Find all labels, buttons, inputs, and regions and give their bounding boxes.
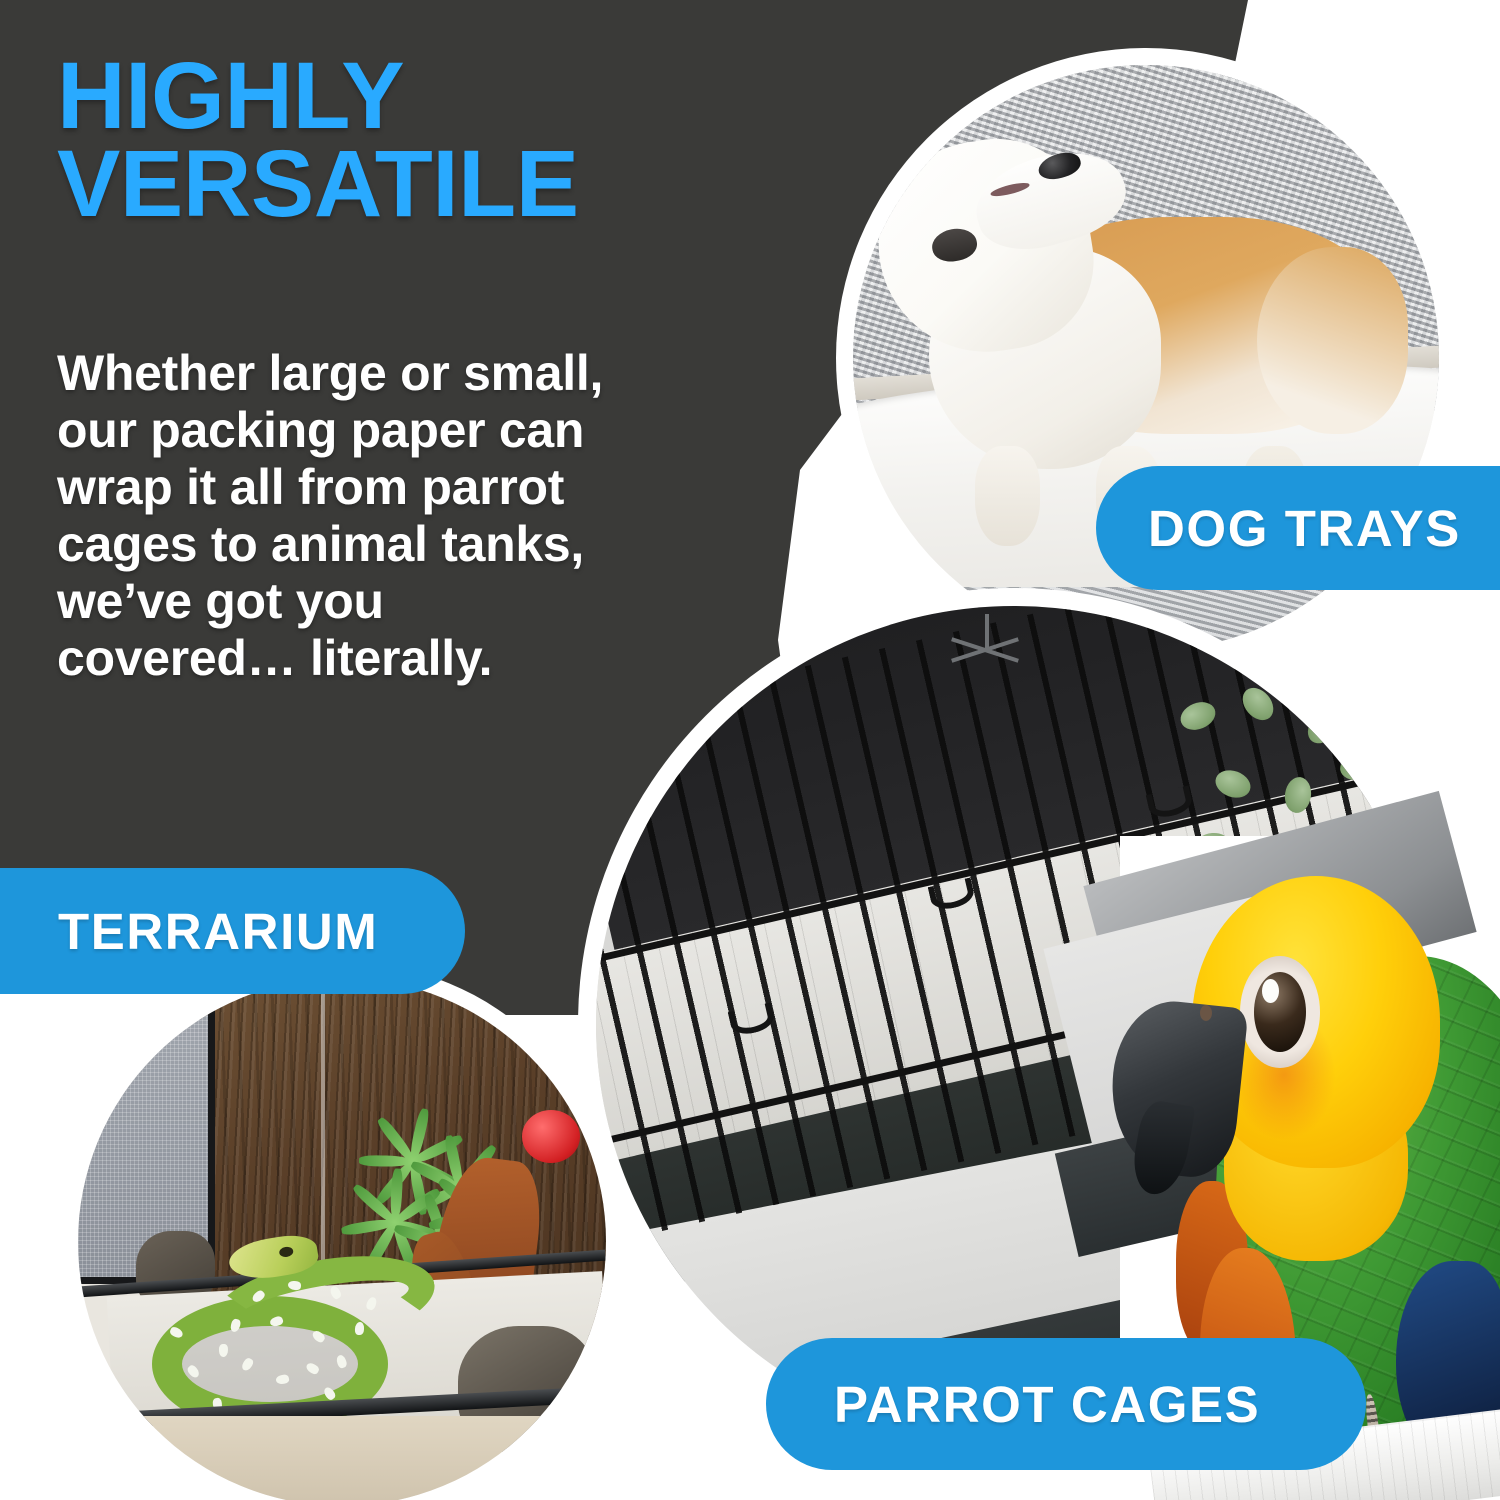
- badge-dog-trays-label: DOG TRAYS: [1148, 499, 1461, 558]
- cage-leaf: [1176, 697, 1219, 735]
- dog-rump: [1257, 247, 1408, 435]
- body-copy-line: cages to animal tanks,: [57, 516, 757, 573]
- dog-leg: [975, 446, 1041, 546]
- terrarium-photo-image: [78, 978, 606, 1500]
- cage-leaf: [1302, 705, 1345, 749]
- infographic-canvas: HIGHLY VERSATILE Whether large or small,…: [0, 0, 1500, 1500]
- terrarium-photo: [62, 962, 622, 1500]
- cage-hanger: [930, 614, 1040, 674]
- snake-marking: [355, 1322, 364, 1335]
- badge-terrarium-label: TERRARIUM: [58, 902, 378, 961]
- badge-dog-trays: DOG TRAYS: [1096, 466, 1500, 590]
- badge-parrot-cages-label: PARROT CAGES: [834, 1375, 1260, 1434]
- body-copy-line: our packing paper can: [57, 402, 757, 459]
- cage-leaf: [1236, 682, 1279, 726]
- cage-leaf: [1338, 751, 1378, 783]
- cage-leaf: [1211, 765, 1254, 802]
- snake-eye: [278, 1246, 294, 1258]
- parrot-eye: [1254, 972, 1306, 1052]
- page-title: HIGHLY VERSATILE: [57, 52, 887, 229]
- headline-line-2: VERSATILE: [57, 140, 887, 228]
- badge-parrot-cages: PARROT CAGES: [766, 1338, 1366, 1470]
- parrot-eye-glint: [1262, 979, 1279, 1003]
- body-copy: Whether large or small, our packing pape…: [57, 345, 757, 687]
- terrarium-scene: [78, 978, 606, 1500]
- cage-leaf: [1282, 776, 1313, 815]
- body-copy-line: wrap it all from parrot: [57, 459, 757, 516]
- headline-line-1: HIGHLY: [57, 52, 887, 140]
- cage-leaf: [1248, 606, 1288, 641]
- body-copy-line: we’ve got you: [57, 573, 757, 630]
- body-copy-line: Whether large or small,: [57, 345, 757, 402]
- cage-leaf: [1306, 631, 1350, 675]
- badge-terrarium: TERRARIUM: [0, 868, 465, 994]
- dog-figure: [894, 182, 1398, 475]
- body-copy-line: covered… literally.: [57, 630, 757, 687]
- cage-leaf: [1188, 620, 1228, 652]
- floor-surface: [78, 1416, 606, 1500]
